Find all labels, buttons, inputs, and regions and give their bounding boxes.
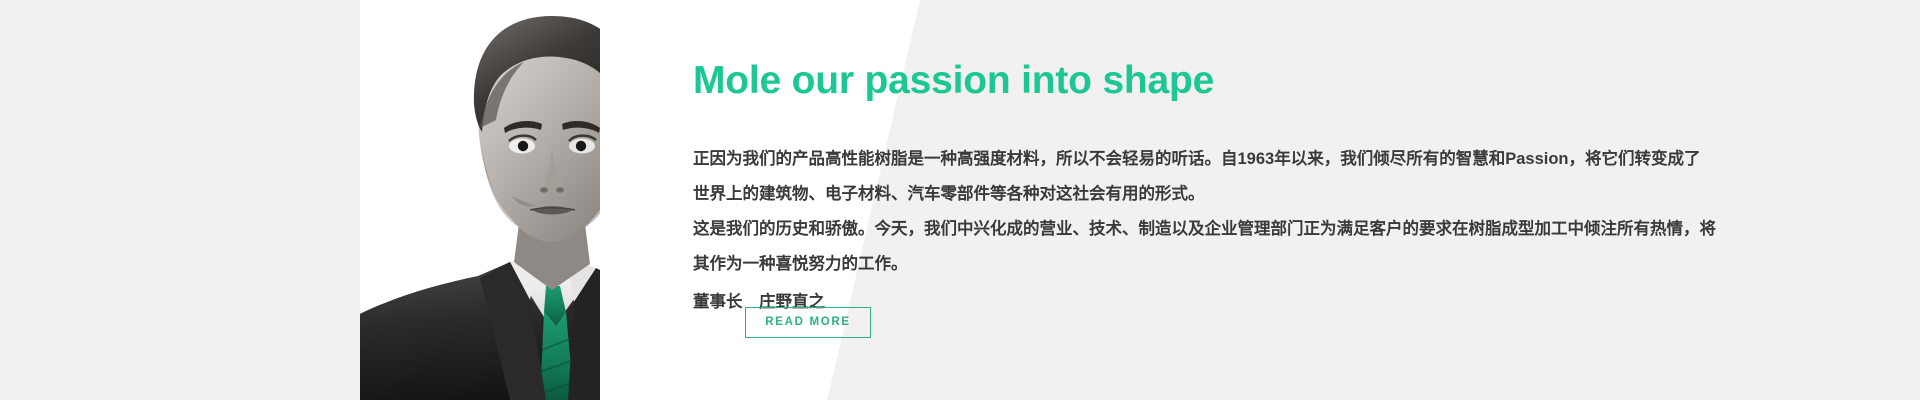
hero-section: Mole our passion into shape 正因为我们的产品高性能树… <box>0 0 1920 400</box>
read-more-button[interactable]: READ MORE <box>745 307 871 338</box>
description-line: 世界上的建筑物、电子材料、汽车零部件等各种对这社会有用的形式。 <box>693 177 1578 212</box>
page-title: Mole our passion into shape <box>693 58 1214 104</box>
description-line: 正因为我们的产品高性能树脂是一种高强度材料，所以不会轻易的听话。自1963年以来… <box>693 142 1578 177</box>
hero-content: Mole our passion into shape 正因为我们的产品高性能树… <box>693 0 1578 400</box>
hero-description: 正因为我们的产品高性能树脂是一种高强度材料，所以不会轻易的听话。自1963年以来… <box>693 142 1578 282</box>
description-line: 这是我们的历史和骄傲。今天，我们中兴化成的营业、技术、制造以及企业管理部门正为满… <box>693 212 1578 247</box>
description-line: 其作为一种喜悦努力的工作。 <box>693 247 1578 282</box>
